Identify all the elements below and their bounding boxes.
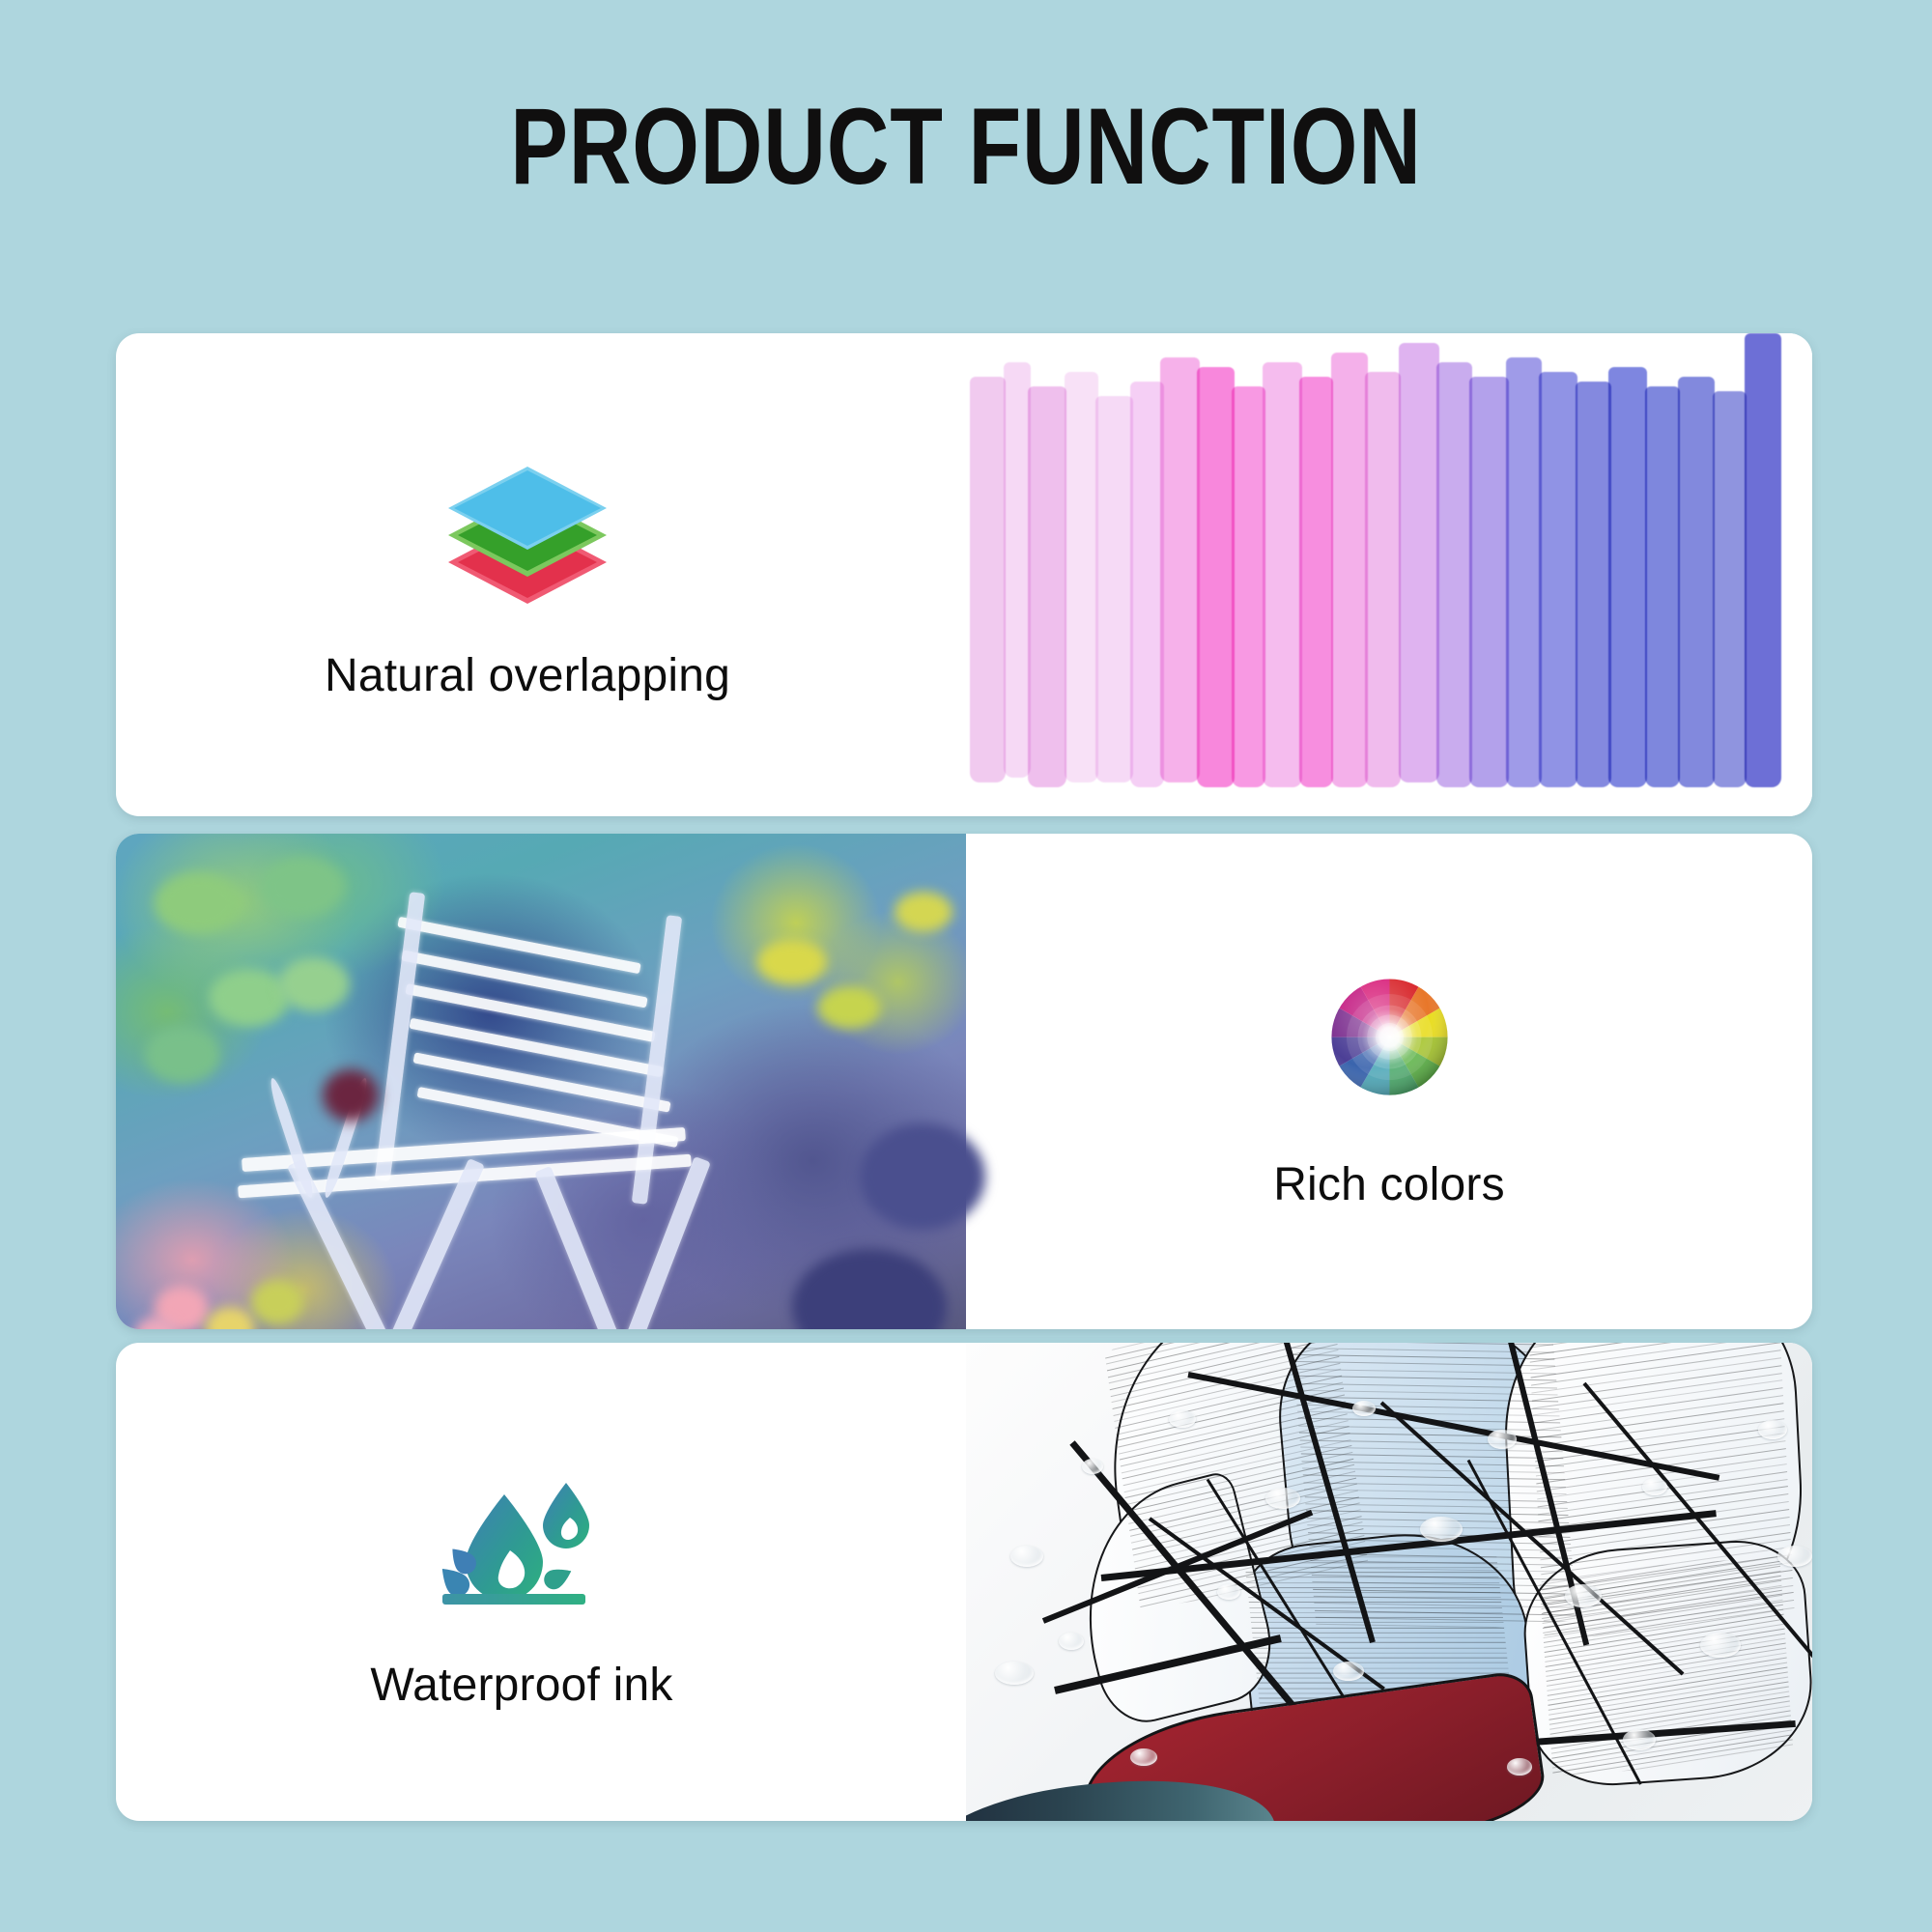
garden-chair-watercolor-image bbox=[116, 834, 966, 1329]
watercolor-stroke bbox=[1645, 386, 1681, 787]
ship-scene-background bbox=[966, 1343, 1812, 1821]
color-wheel-icon-svg bbox=[1315, 964, 1464, 1114]
waterdrop-icon-svg bbox=[435, 1462, 609, 1616]
feature-block-waterproof-ink: Waterproof ink bbox=[116, 1343, 947, 1821]
watercolor-stroke bbox=[1065, 372, 1098, 782]
garden-chair-painting bbox=[116, 834, 966, 1329]
sail-hatching bbox=[1245, 1587, 1518, 1588]
waterdrop-icon bbox=[420, 1452, 623, 1626]
watercolor-stroke bbox=[1095, 396, 1133, 782]
ship-sketch-clip bbox=[966, 1343, 1812, 1821]
sail-hatching bbox=[1245, 1647, 1518, 1648]
sail-hatching bbox=[1245, 1567, 1518, 1568]
watercolor-stroke bbox=[1608, 367, 1647, 787]
watercolor-stroke bbox=[1469, 377, 1508, 787]
feature-block-rich-colors: Rich colors bbox=[966, 834, 1812, 1329]
watercolor-stroke bbox=[1745, 333, 1782, 787]
sail-hatching bbox=[1245, 1653, 1518, 1654]
sail-hatching bbox=[1245, 1633, 1518, 1634]
sail-hatching bbox=[1292, 1482, 1577, 1489]
layers-icon bbox=[426, 448, 629, 622]
sail-hatching bbox=[1245, 1572, 1518, 1573]
feature-label-rich-colors: Rich colors bbox=[1273, 1158, 1505, 1211]
watercolor-stroke bbox=[1160, 357, 1199, 782]
watercolor-stroke bbox=[1232, 386, 1265, 787]
watercolor-stroke bbox=[1576, 382, 1611, 787]
watercolor-stroke bbox=[1399, 343, 1439, 782]
feature-card-waterproof-ink: Waterproof ink bbox=[116, 1343, 1812, 1821]
watercolor-stroke bbox=[1539, 372, 1577, 787]
watercolor-swatch-image bbox=[966, 333, 1812, 816]
sail-hatching bbox=[1245, 1667, 1518, 1668]
sail-hatching bbox=[1245, 1637, 1518, 1638]
watercolor-stroke bbox=[1130, 382, 1164, 787]
infographic-page: PRODUCT FUNCTION bbox=[0, 0, 1932, 1932]
sail-hatching bbox=[1292, 1489, 1577, 1495]
feature-card-natural-overlapping: Natural overlapping bbox=[116, 333, 1812, 816]
sail-hatching bbox=[1245, 1628, 1518, 1629]
watercolor-stroke bbox=[1331, 353, 1369, 787]
watercolor-stroke bbox=[1299, 377, 1333, 787]
layers-icon-svg bbox=[440, 463, 614, 608]
watercolor-stroke bbox=[1713, 391, 1747, 787]
card-3-text-panel: Waterproof ink bbox=[116, 1343, 966, 1821]
watercolor-stroke bbox=[1263, 362, 1301, 787]
sail-hatching bbox=[1245, 1658, 1518, 1659]
sail-hatching bbox=[1292, 1474, 1577, 1481]
sail-hatching bbox=[1245, 1642, 1518, 1643]
watercolor-swatch-canvas bbox=[966, 333, 1812, 816]
sail-hatching bbox=[1245, 1592, 1518, 1593]
card-1-text-panel: Natural overlapping bbox=[116, 333, 966, 816]
feature-label-waterproof-ink: Waterproof ink bbox=[370, 1659, 672, 1712]
watercolor-stroke bbox=[1197, 367, 1235, 787]
sail-hatching bbox=[1245, 1577, 1518, 1577]
sail-hatching bbox=[1245, 1582, 1518, 1583]
feature-label-natural-overlapping: Natural overlapping bbox=[325, 649, 730, 702]
sail-hatching bbox=[1245, 1622, 1518, 1623]
watercolor-stroke bbox=[1365, 372, 1401, 787]
card-2-text-panel: Rich colors bbox=[966, 834, 1812, 1329]
watercolor-stroke bbox=[1004, 362, 1031, 778]
sail-hatching bbox=[1245, 1612, 1518, 1613]
sailing-ship-sketch-image bbox=[966, 1343, 1812, 1821]
watercolor-stroke bbox=[1028, 386, 1066, 787]
feature-block-natural-overlapping: Natural overlapping bbox=[116, 333, 952, 816]
feature-card-rich-colors: Rich colors bbox=[116, 834, 1812, 1329]
watercolor-stroke bbox=[1436, 362, 1472, 787]
watercolor-stroke bbox=[970, 377, 1006, 782]
sail-hatching bbox=[1245, 1597, 1518, 1598]
watercolor-stroke bbox=[1678, 377, 1716, 787]
sail-hatching bbox=[1245, 1672, 1518, 1673]
watercolor-stroke bbox=[1506, 357, 1542, 787]
page-title: PRODUCT FUNCTION bbox=[193, 93, 1739, 201]
color-wheel-icon bbox=[1288, 952, 1491, 1125]
sail-hatching bbox=[1245, 1662, 1518, 1663]
